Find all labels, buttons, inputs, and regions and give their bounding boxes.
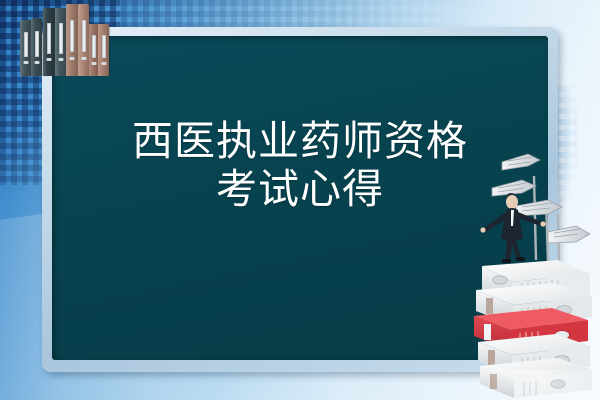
binder-6 xyxy=(78,4,89,76)
binder-4 xyxy=(55,8,66,76)
binder-label xyxy=(102,35,106,58)
binder-label xyxy=(82,20,86,52)
binder-8 xyxy=(98,24,109,76)
binder-ring xyxy=(34,61,39,64)
banner-canvas: 西医执业药师资格 考试心得 xyxy=(0,0,600,400)
binder-label xyxy=(92,35,96,58)
binder-ring xyxy=(58,58,63,61)
binder-ring xyxy=(23,61,28,64)
binder-ring xyxy=(47,58,52,61)
binder-1 xyxy=(20,20,31,76)
binder-2 xyxy=(31,18,42,76)
binder-label xyxy=(24,32,28,57)
binder-ring xyxy=(81,57,86,60)
binder-label xyxy=(59,23,63,54)
binder-ring xyxy=(70,57,75,60)
blackboard-frame: 西医执业药师资格 考试心得 xyxy=(42,27,558,372)
title-line-1: 西医执业药师资格 xyxy=(52,118,548,166)
page-title: 西医执业药师资格 考试心得 xyxy=(52,118,548,213)
binder-row xyxy=(12,0,104,76)
binder-5 xyxy=(66,4,78,76)
binder-3 xyxy=(43,8,55,76)
title-line-2: 考试心得 xyxy=(52,166,548,214)
binder-label xyxy=(35,31,39,57)
binder-ring xyxy=(101,62,106,65)
binder-label xyxy=(70,20,74,52)
binder-label xyxy=(47,23,51,54)
blackboard-surface: 西医执业药师资格 考试心得 xyxy=(52,36,548,360)
binder-ring xyxy=(92,62,97,65)
